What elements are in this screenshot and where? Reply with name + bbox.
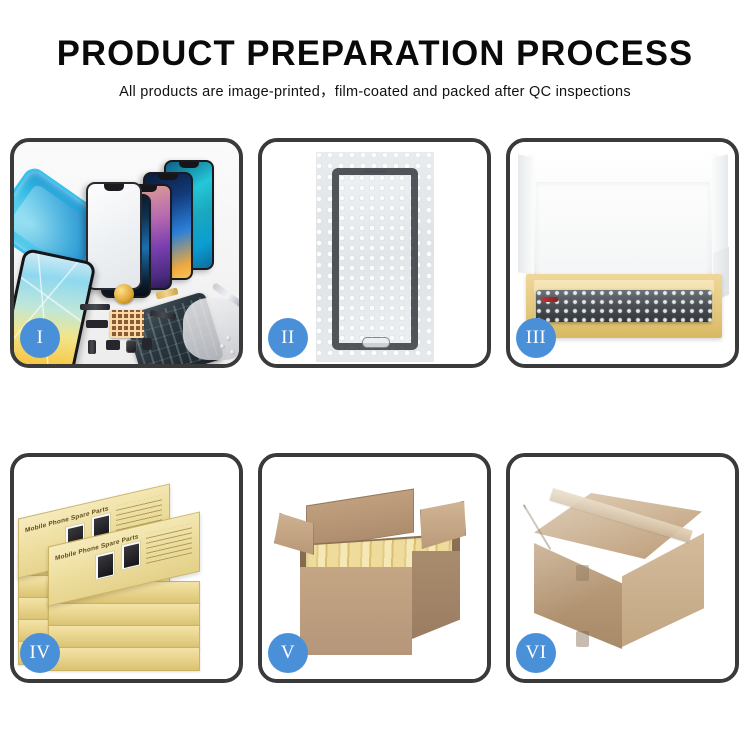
process-step-6: VI	[506, 453, 739, 683]
sim-tray-part	[88, 340, 96, 354]
carton-front-face	[300, 567, 412, 655]
stacked-box	[48, 603, 200, 627]
earpiece-slot	[364, 170, 386, 173]
step-badge-1: I	[20, 318, 60, 358]
page-subtitle: All products are image-printed，film-coat…	[0, 83, 750, 101]
box-spec-lines	[146, 523, 192, 564]
vibrator-part	[86, 320, 108, 328]
header: PRODUCT PREPARATION PROCESS All products…	[0, 34, 750, 101]
home-button-shape	[362, 337, 390, 348]
wrapped-screen-shape	[332, 168, 418, 350]
step-badge-3: III	[516, 318, 556, 358]
process-step-3: III	[506, 138, 739, 368]
carton-handle-notch	[576, 631, 589, 647]
ic-chip-part	[106, 340, 120, 350]
page-title: PRODUCT PREPARATION PROCESS	[4, 34, 747, 74]
process-step-2: II	[258, 138, 491, 368]
process-step-5: V	[258, 453, 491, 683]
foam-padding-shape	[536, 182, 710, 278]
box-thumbnail	[95, 550, 115, 581]
process-step-1: I	[10, 138, 243, 368]
screw-part	[230, 350, 235, 355]
carton-handle-notch	[576, 565, 589, 581]
button-flex-part	[150, 310, 177, 320]
bubble-wrap-sheet	[316, 152, 434, 362]
step-badge-5: V	[268, 633, 308, 673]
stacked-box	[48, 647, 200, 671]
flex-cable-part	[80, 304, 110, 310]
product-preparation-infographic: PRODUCT PREPARATION PROCESS All products…	[0, 0, 750, 750]
ribbon-cable-part	[155, 287, 178, 299]
speaker-coil-part	[114, 284, 134, 304]
step-badge-6: VI	[516, 633, 556, 673]
screw-part	[226, 336, 231, 341]
screw-part	[220, 344, 225, 349]
process-step-4: Mobile Phone Spare Parts Mobile Phone Sp…	[10, 453, 243, 683]
step-badge-4: IV	[20, 633, 60, 673]
step-badge-2: II	[268, 318, 308, 358]
battery-part	[142, 338, 152, 350]
camera-module-part	[126, 340, 137, 353]
spare-parts-cluster	[80, 282, 239, 364]
process-steps-grid: I II	[10, 138, 740, 683]
connector-grid-part	[110, 310, 144, 338]
stacked-box	[48, 625, 200, 649]
box-thumbnail	[121, 540, 141, 571]
packed-screen-shape	[536, 290, 712, 322]
